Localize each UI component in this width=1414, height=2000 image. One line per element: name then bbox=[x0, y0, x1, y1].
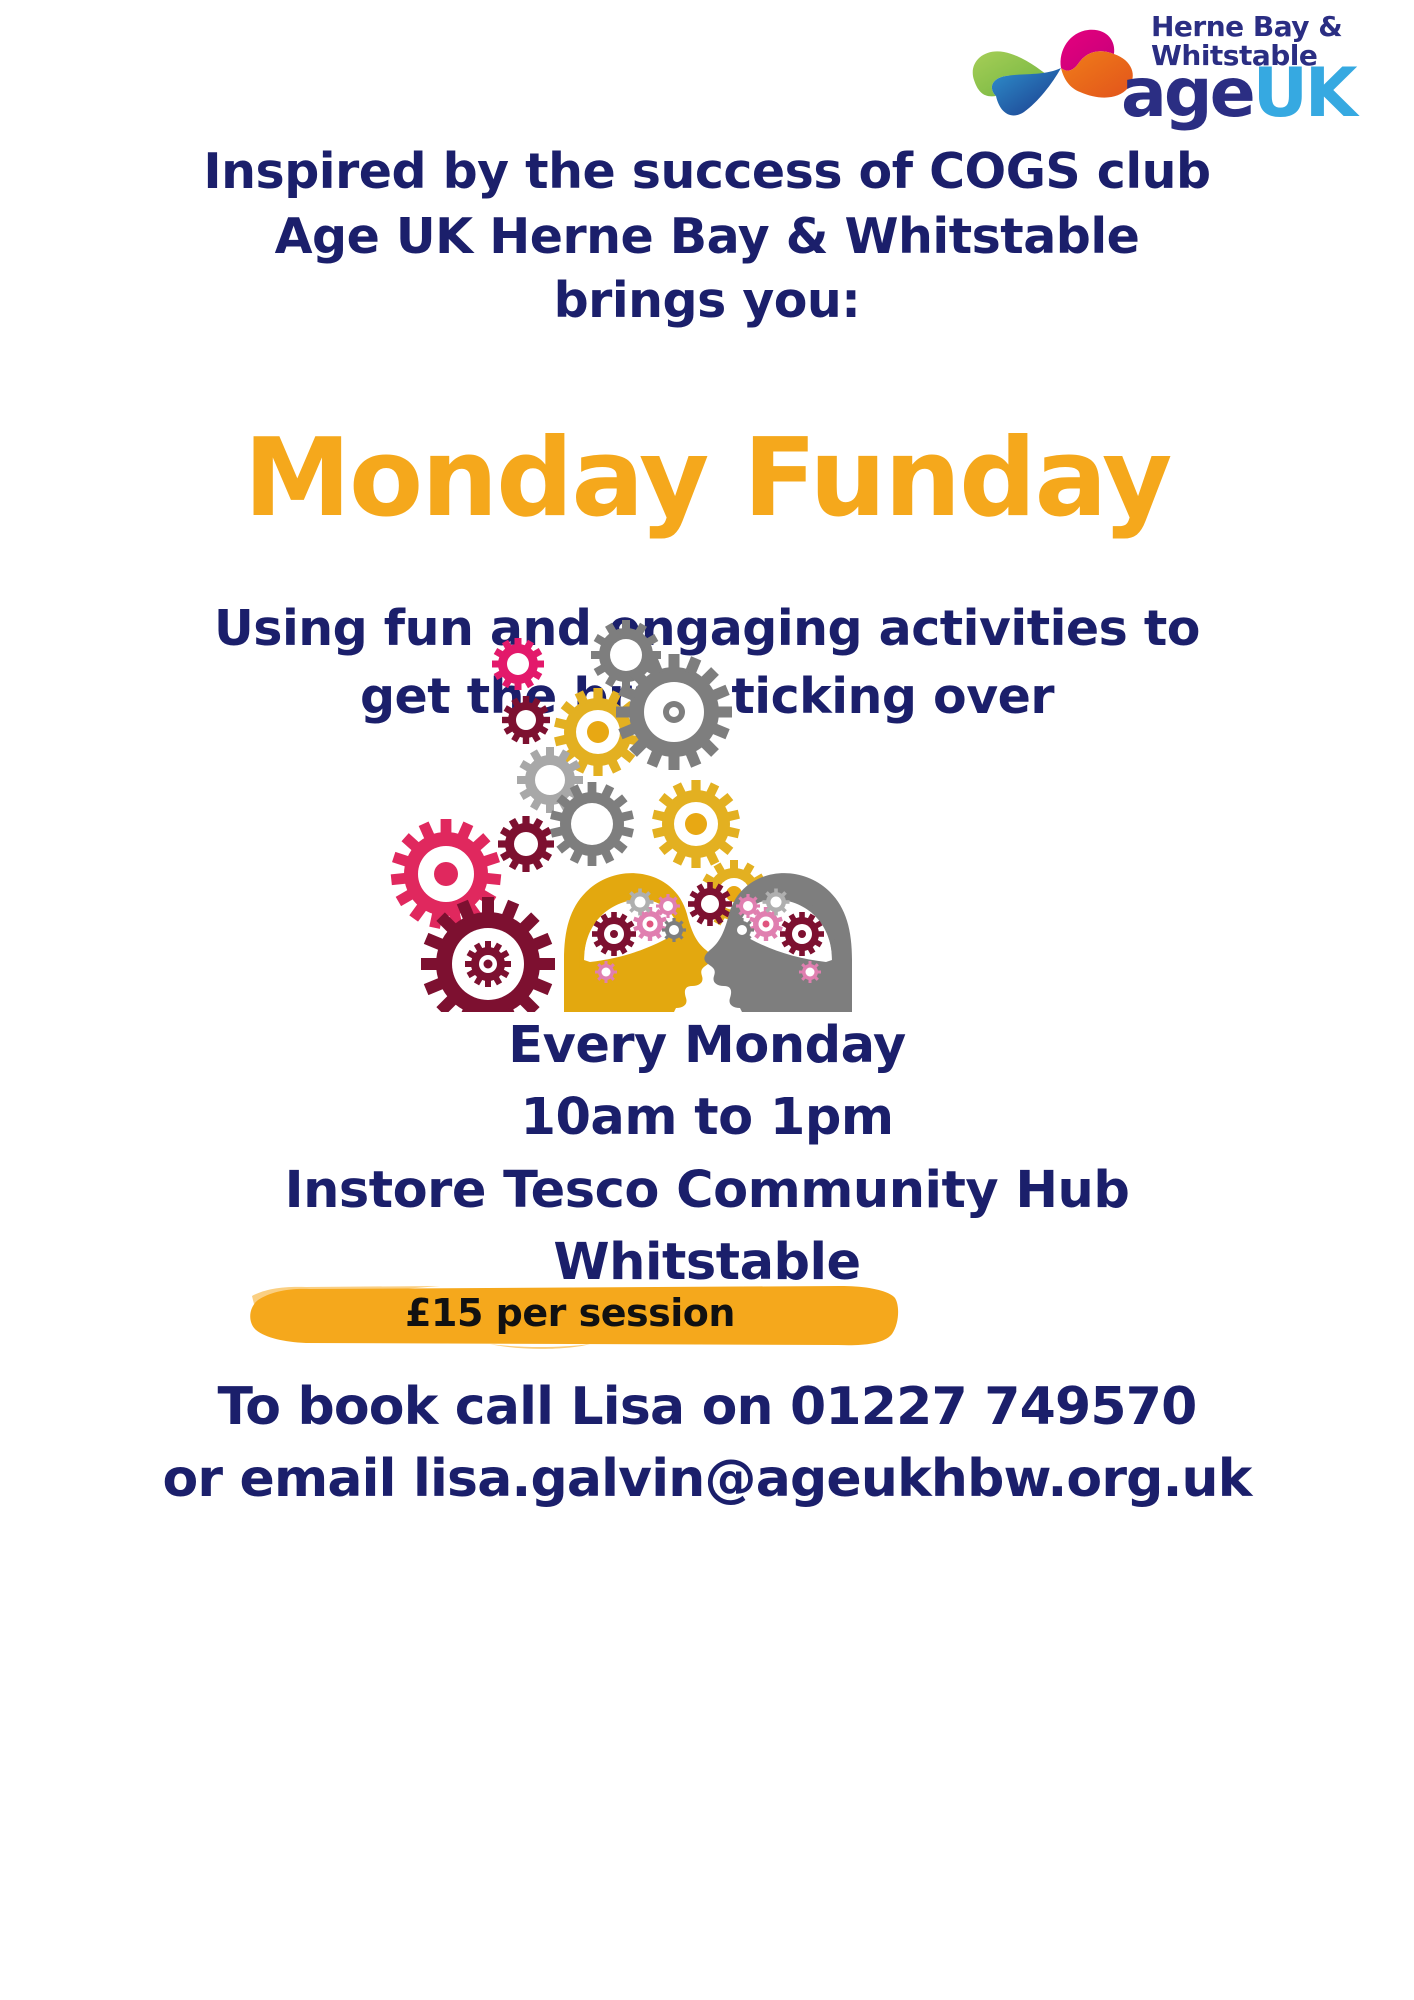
event-details: Every Monday 10am to 1pm Instore Tesco C… bbox=[0, 1010, 1414, 1300]
gear-grey-big bbox=[616, 654, 732, 770]
logo-wordmark: ageUK bbox=[1121, 60, 1355, 128]
page-title: Monday Funday bbox=[0, 425, 1414, 533]
gear-darkred-sm2 bbox=[498, 816, 554, 872]
intro-line-1: Inspired by the success of COGS club bbox=[0, 140, 1414, 205]
contact-email-line: or email lisa.galvin@ageukhbw.org.uk bbox=[0, 1444, 1414, 1516]
logo-line-1: Herne Bay & bbox=[1151, 12, 1386, 41]
contact-info: To book call Lisa on 01227 749570 or ema… bbox=[0, 1372, 1414, 1516]
gear-amber-right bbox=[652, 780, 740, 868]
intro-line-2: Age UK Herne Bay & Whitstable bbox=[0, 205, 1414, 270]
logo-word-uk: UK bbox=[1253, 54, 1355, 133]
price-label: £15 per session bbox=[240, 1278, 900, 1350]
gear-pink-small-tl bbox=[492, 638, 544, 690]
details-line-1: Every Monday bbox=[0, 1010, 1414, 1082]
two-heads-with-gears-illustration bbox=[378, 612, 1038, 1012]
details-line-2: 10am to 1pm bbox=[0, 1082, 1414, 1154]
age-uk-logo: Herne Bay & Whitstable ageUK bbox=[966, 8, 1386, 126]
gear-darkred-sm bbox=[502, 696, 550, 744]
head-left-yellow bbox=[564, 873, 712, 1012]
details-line-3: Instore Tesco Community Hub bbox=[0, 1155, 1414, 1227]
logo-word-age: age bbox=[1121, 54, 1253, 133]
intro-line-3: brings you: bbox=[0, 269, 1414, 334]
price-banner: £15 per session bbox=[240, 1278, 900, 1350]
intro-text: Inspired by the success of COGS club Age… bbox=[0, 140, 1414, 334]
contact-phone-line: To book call Lisa on 01227 749570 bbox=[0, 1372, 1414, 1444]
poster-canvas: Herne Bay & Whitstable ageUK Inspired by… bbox=[0, 0, 1414, 2000]
